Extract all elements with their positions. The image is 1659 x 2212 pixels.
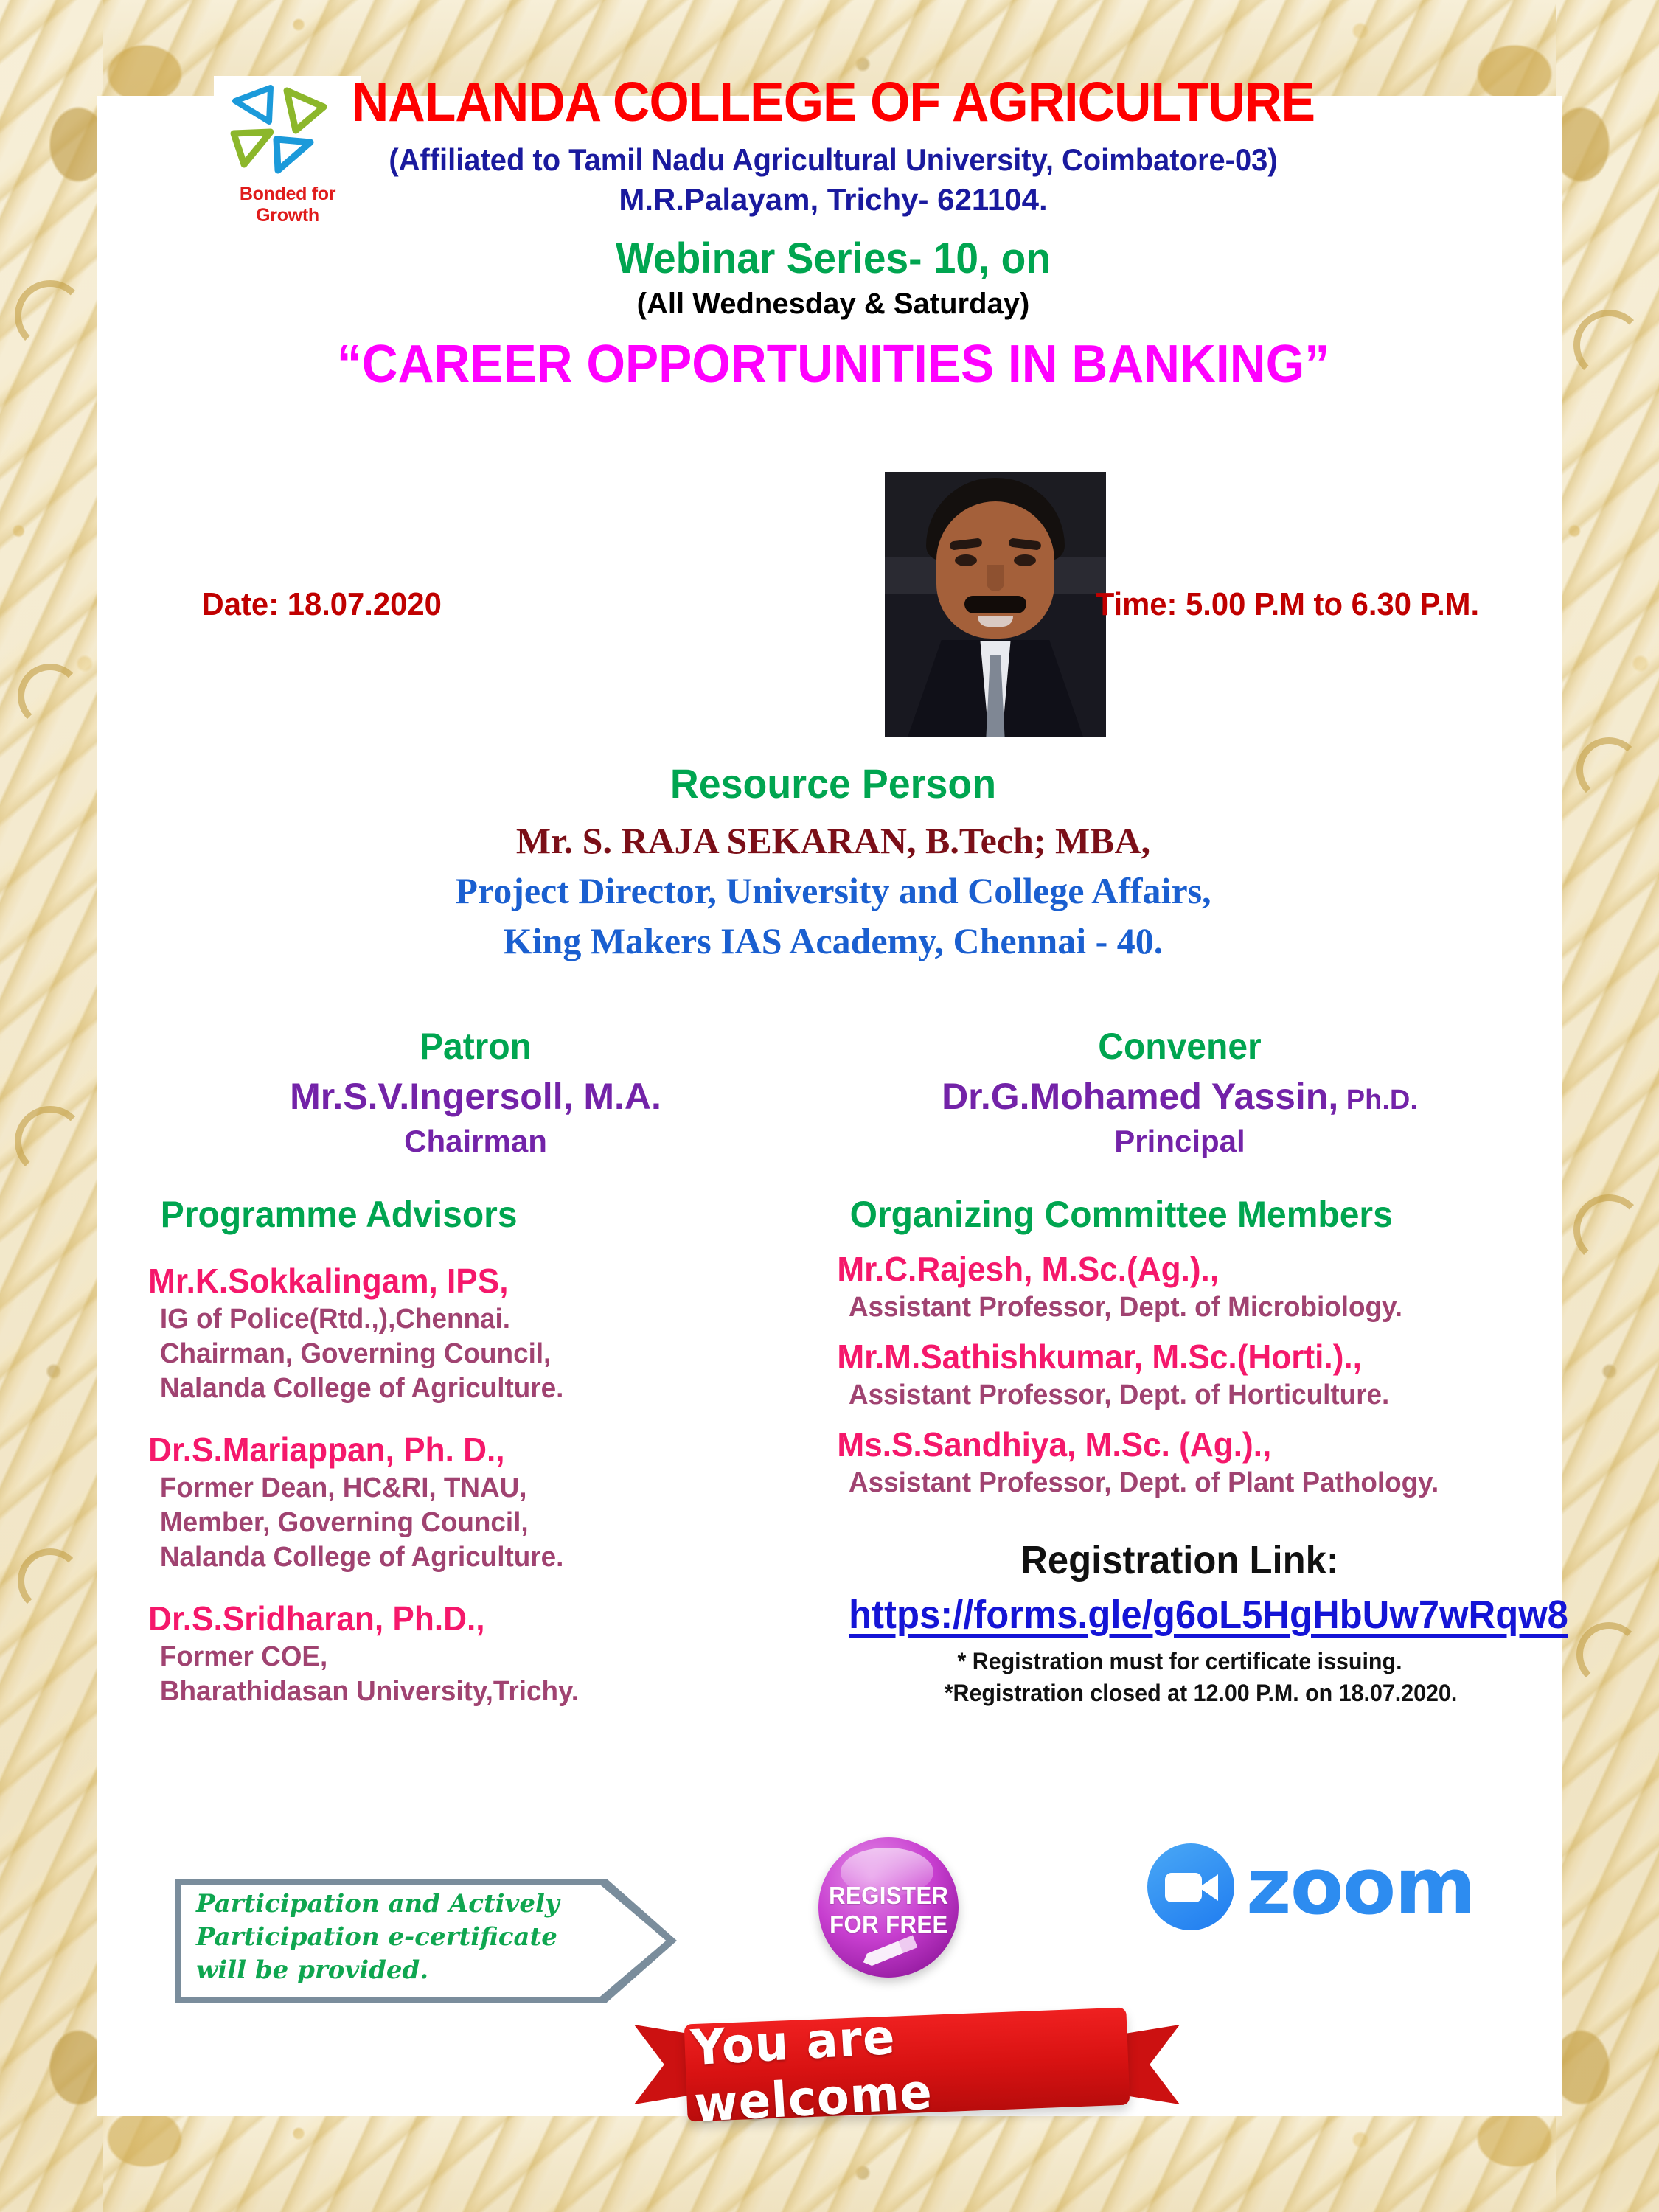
convener-name: Dr.G.Mohamed Yassin, Ph.D. [826, 1075, 1534, 1118]
registration-block: Registration Link: https://forms.gle/g6o… [826, 1537, 1534, 1707]
speaker-photo [885, 472, 1106, 737]
pencil-icon [860, 1935, 917, 1968]
committee-member-name: Ms.S.Sandhiya, M.Sc. (Ag.)., [826, 1425, 1506, 1464]
resource-person-label: Resource Person [161, 759, 1506, 807]
badge-line-2: FOR FREE [829, 1912, 948, 1936]
resource-person-role-line-2: King Makers IAS Academy, Chennai - 40. [133, 919, 1534, 962]
advisor-detail: Nalanda College of Agriculture. [133, 1542, 798, 1573]
committee-member-detail: Assistant Professor, Dept. of Microbiolo… [826, 1292, 1512, 1324]
list-item: Mr.C.Rajesh, M.Sc.(Ag.)., Assistant Prof… [826, 1249, 1534, 1324]
advisor-name: Dr.S.Sridharan, Ph.D., [133, 1599, 791, 1638]
right-column: Convener Dr.G.Mohamed Yassin, Ph.D. Prin… [826, 1025, 1534, 1707]
zoom-logo: zoom [1147, 1843, 1475, 1930]
left-column: Patron Mr.S.V.Ingersoll, M.A. Chairman P… [133, 1025, 818, 1708]
college-name: NALANDA COLLEGE OF AGRICULTURE [182, 70, 1485, 133]
list-item: Ms.S.Sandhiya, M.Sc. (Ag.)., Assistant P… [826, 1425, 1534, 1499]
organizing-committee-heading: Organizing Committee Members [840, 1193, 1520, 1236]
advisor-detail: Nalanda College of Agriculture. [133, 1373, 798, 1405]
committee-member-detail: Assistant Professor, Dept. of Horticultu… [826, 1380, 1512, 1411]
schedule-row: Date: 18.07.2020 Time: 5.00 P.M to 6.30 … [133, 549, 1534, 719]
committee-member-name: Mr.M.Sathishkumar, M.Sc.(Horti.)., [826, 1337, 1506, 1377]
advisor-detail: Former COE, [133, 1641, 798, 1673]
patron-name: Mr.S.V.Ingersoll, M.A. [133, 1075, 818, 1118]
ribbon-text: You are welcome [689, 1996, 1124, 2133]
programme-advisors-heading: Programme Advisors [147, 1193, 805, 1236]
affiliation-line: (Affiliated to Tamil Nadu Agricultural U… [168, 142, 1499, 178]
badge-line-1: REGISTER [829, 1883, 948, 1907]
advisor-detail: Chairman, Governing Council, [133, 1338, 798, 1370]
webinar-series-title: Webinar Series- 10, on [168, 234, 1499, 283]
resource-person-role-line-1: Project Director, University and College… [133, 869, 1534, 912]
convener-name-suffix: Ph.D. [1338, 1085, 1418, 1116]
registration-note-1: * Registration must for certificate issu… [844, 1648, 1516, 1675]
poster-header: Bonded for Growth NALANDA COLLEGE OF AGR… [133, 70, 1534, 394]
registration-link[interactable]: https://forms.gle/g6oL5HgHbUw7wRqw8 [849, 1592, 1568, 1638]
advisor-detail: Member, Governing Council, [133, 1507, 798, 1539]
advisor-detail: IG of Police(Rtd.,),Chennai. [133, 1304, 798, 1335]
advisor-detail: Bharathidasan University,Trichy. [133, 1676, 798, 1708]
advisor-name: Dr.S.Mariappan, Ph. D., [133, 1430, 791, 1470]
event-time: Time: 5.00 P.M to 6.30 P.M. [1096, 586, 1479, 623]
registration-note-2: *Registration closed at 12.00 P.M. on 18… [844, 1680, 1516, 1707]
poster-content: Bonded for Growth NALANDA COLLEGE OF AGR… [0, 0, 1659, 2212]
list-item: Dr.S.Sridharan, Ph.D., Former COE, Bhara… [133, 1599, 818, 1708]
patron-designation: Chairman [133, 1124, 818, 1159]
list-item: Mr.K.Sokkalingam, IPS, IG of Police(Rtd.… [133, 1261, 818, 1405]
video-camera-icon [1147, 1843, 1234, 1930]
zoom-wordmark: zoom [1246, 1851, 1475, 1921]
advisor-name: Mr.K.Sokkalingam, IPS, [133, 1261, 791, 1301]
convener-label: Convener [840, 1025, 1520, 1068]
list-item: Mr.M.Sathishkumar, M.Sc.(Horti.)., Assis… [826, 1337, 1534, 1411]
committee-member-detail: Assistant Professor, Dept. of Plant Path… [826, 1467, 1512, 1499]
welcome-ribbon: You are welcome [634, 2004, 1180, 2144]
resource-person-block: Resource Person Mr. S. RAJA SEKARAN, B.T… [133, 759, 1534, 962]
register-for-free-badge[interactable]: REGISTER FOR FREE [818, 1837, 959, 1978]
convener-name-text: Dr.G.Mohamed Yassin, [942, 1076, 1338, 1117]
logo-tagline: Bonded for Growth [214, 184, 361, 226]
ribbon-banner: You are welcome [684, 2008, 1130, 2122]
certificate-callout-text: Participation and Actively Participation… [196, 1888, 580, 1987]
webinar-series-note: (All Wednesday & Saturday) [133, 288, 1534, 321]
advisor-detail: Former Dean, HC&RI, TNAU, [133, 1472, 798, 1504]
committee-member-name: Mr.C.Rajesh, M.Sc.(Ag.)., [826, 1249, 1506, 1289]
patron-label: Patron [147, 1025, 805, 1068]
convener-designation: Principal [826, 1124, 1534, 1159]
resource-person-name: Mr. S. RAJA SEKARAN, B.Tech; MBA, [133, 819, 1534, 862]
registration-title: Registration Link: [847, 1537, 1512, 1583]
list-item: Dr.S.Mariappan, Ph. D., Former Dean, HC&… [133, 1430, 818, 1573]
event-date: Date: 18.07.2020 [202, 586, 442, 623]
webinar-topic: “CAREER OPPORTUNITIES IN BANKING” [175, 334, 1492, 394]
